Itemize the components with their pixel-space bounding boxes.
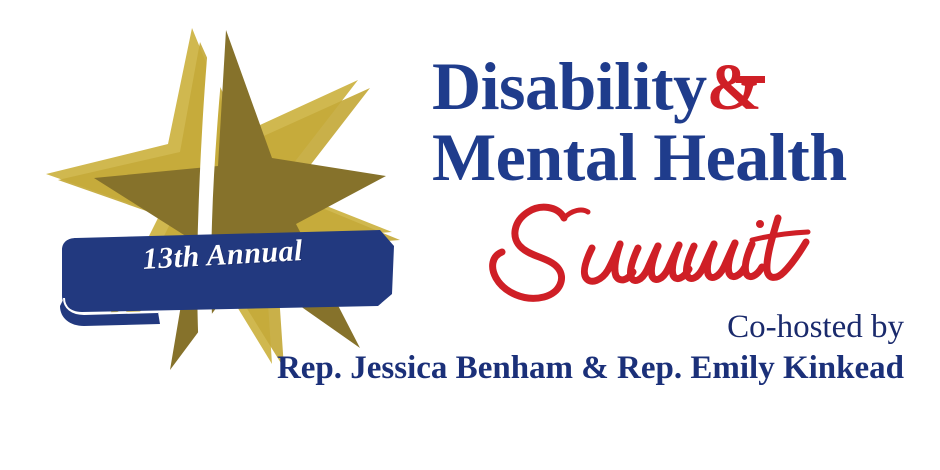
ampersand-icon: & [707,56,761,119]
script-word-summit [452,196,852,306]
title-line-disability: Disability& [432,54,902,119]
host-representatives-label: Rep. Jessica Benham & Rep. Emily Kinkead [277,350,904,387]
event-logo-canvas: 13th Annual Disability& Mental Health [0,0,940,470]
logo-title-block: Disability& Mental Health [432,54,902,191]
title-word-disability: Disability [432,48,707,124]
title-line-mental-health: Mental Health [432,125,902,190]
cohosted-by-label: Co-hosted by [727,309,904,346]
